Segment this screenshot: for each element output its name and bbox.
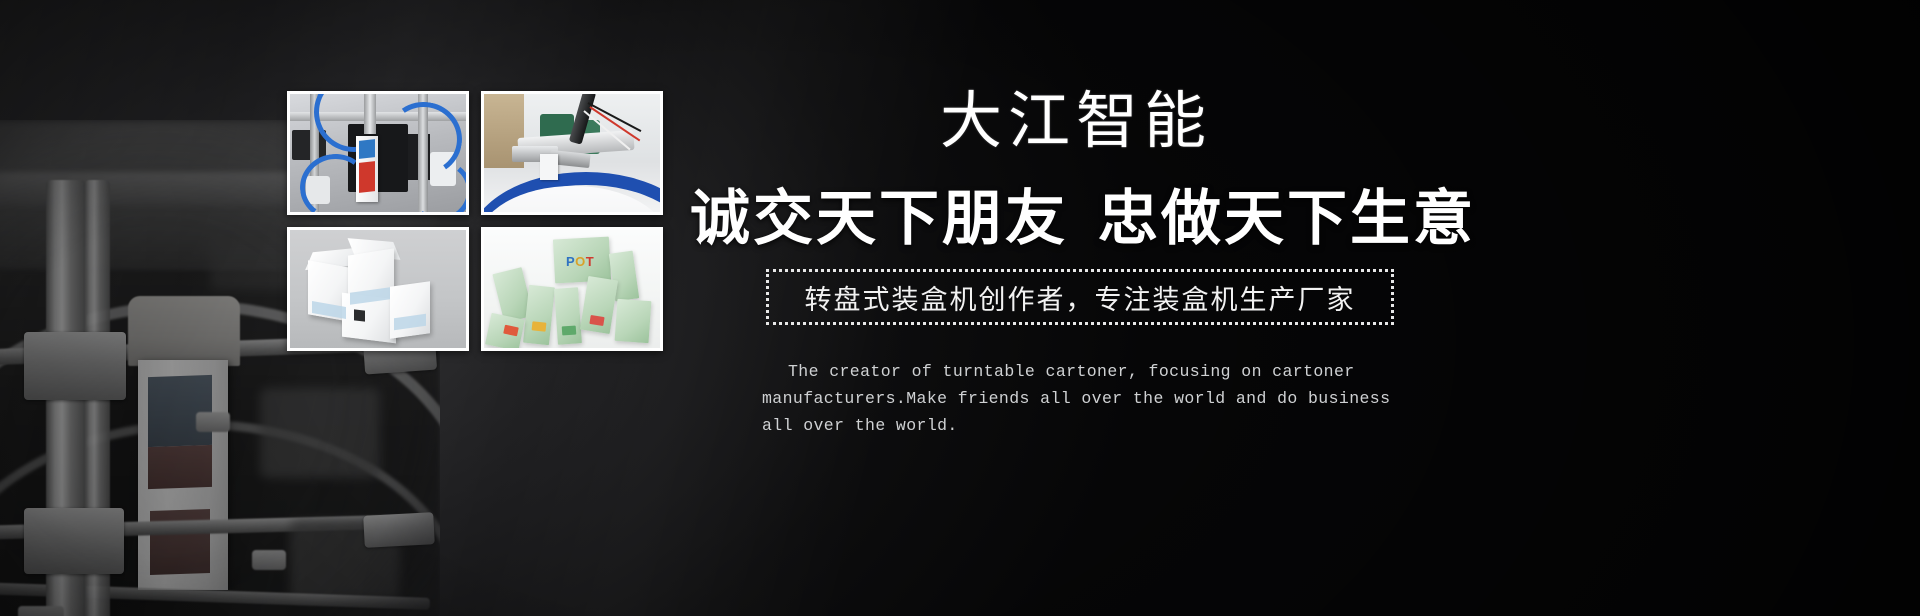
white-carton	[390, 281, 430, 339]
thumb-image	[290, 230, 466, 348]
carton-blue-band	[359, 139, 375, 159]
headline: 诚交天下朋友忠做天下生意	[690, 184, 1476, 255]
brand-title: 大江智能	[940, 88, 1212, 156]
english-line-2: manufacturers.Make friends all over the …	[762, 389, 1390, 408]
green-carton	[615, 299, 652, 343]
thumb-robot-arm[interactable]	[481, 91, 663, 215]
thumb-white-cartons[interactable]	[287, 227, 469, 351]
thumb-green-cartons[interactable]: POT	[481, 227, 663, 351]
green-carton	[523, 285, 555, 345]
english-paragraph: The creator of turntable cartoner, focus…	[762, 358, 1412, 439]
carton-pot-logo: POT	[566, 254, 594, 269]
carton-in-gripper	[540, 154, 558, 180]
thumb-image	[484, 94, 660, 212]
thumb-image	[290, 94, 466, 212]
carton-color-label	[562, 326, 577, 336]
headline-part-left: 诚交天下朋友	[690, 186, 1068, 252]
hero-banner: POT 大江智能 诚交天下朋友忠做天下生意 转盘式装盒机创作者，专注装盒机生产厂…	[0, 0, 1920, 616]
english-line-1: The creator of turntable cartoner, focus…	[788, 362, 1355, 381]
carton-color-label	[532, 321, 547, 331]
thumb-image: POT	[484, 230, 660, 348]
headline-part-right: 忠做天下生意	[1098, 186, 1476, 252]
carton-red-band	[359, 161, 375, 193]
carton-qr-code	[354, 309, 365, 321]
english-line-3: all over the world.	[762, 416, 958, 435]
product-thumbnail-grid: POT	[287, 91, 663, 351]
green-carton	[554, 287, 582, 345]
carton-on-line	[356, 136, 378, 202]
thumb-cartoner-machine[interactable]	[287, 91, 469, 215]
tagline-dotted-box: 转盘式装盒机创作者，专注装盒机生产厂家	[766, 269, 1394, 325]
tagline-text: 转盘式装盒机创作者，专注装盒机生产厂家	[805, 278, 1356, 317]
